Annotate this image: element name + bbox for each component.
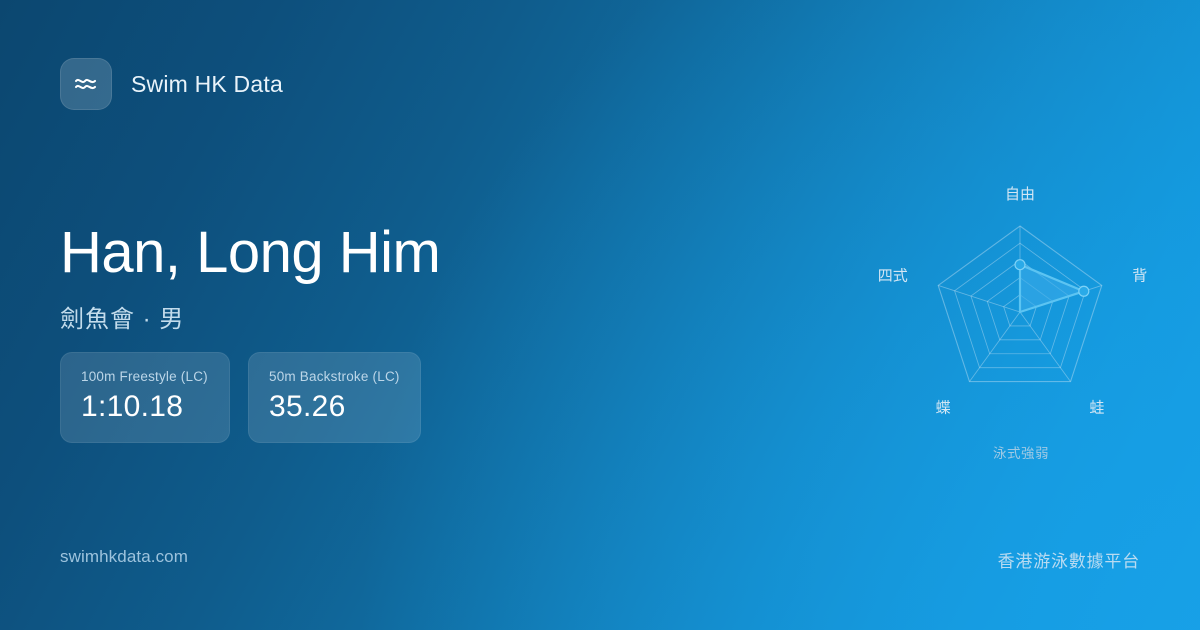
stat-card: 50m Backstroke (LC) 35.26 — [248, 352, 421, 443]
radar-axis-line — [1020, 312, 1071, 382]
brand-header: Swim HK Data — [60, 58, 283, 110]
radar-axis-line — [938, 285, 1020, 312]
radar-axis-label: 自由 — [1005, 186, 1035, 203]
radar-chart-caption: 泳式強弱 — [866, 442, 1176, 462]
radar-axis-label: 蛙 — [1089, 400, 1104, 417]
app-title: Swim HK Data — [131, 71, 283, 98]
stat-card-label: 100m Freestyle (LC) — [81, 369, 209, 384]
footer-site-url: swimhkdata.com — [60, 547, 188, 567]
page-title: Han, Long Him — [60, 220, 440, 287]
radar-axis-label: 蝶 — [936, 400, 951, 417]
radar-axis-label: 背 — [1132, 268, 1147, 285]
radar-axis-label: 四式 — [878, 268, 908, 285]
stat-card-label: 50m Backstroke (LC) — [269, 369, 400, 384]
waves-icon — [72, 70, 100, 98]
footer-tagline: 香港游泳數據平台 — [998, 547, 1140, 572]
athlete-meta: 劍魚會 · 男 — [60, 299, 440, 334]
stat-card-value: 35.26 — [269, 390, 400, 424]
stroke-strength-radar-chart: 自由背蛙蝶四式 泳式強弱 — [866, 170, 1176, 470]
radar-data-point — [1079, 286, 1089, 296]
radar-svg: 自由背蛙蝶四式 — [866, 170, 1176, 470]
radar-data-point — [1015, 260, 1025, 270]
stat-card-list: 100m Freestyle (LC) 1:10.18 50m Backstro… — [60, 352, 421, 443]
stat-card: 100m Freestyle (LC) 1:10.18 — [60, 352, 230, 443]
app-logo — [60, 58, 112, 110]
radar-axis-line — [969, 312, 1020, 382]
athlete-identity: Han, Long Him 劍魚會 · 男 — [60, 220, 440, 334]
stat-card-value: 1:10.18 — [81, 390, 209, 424]
